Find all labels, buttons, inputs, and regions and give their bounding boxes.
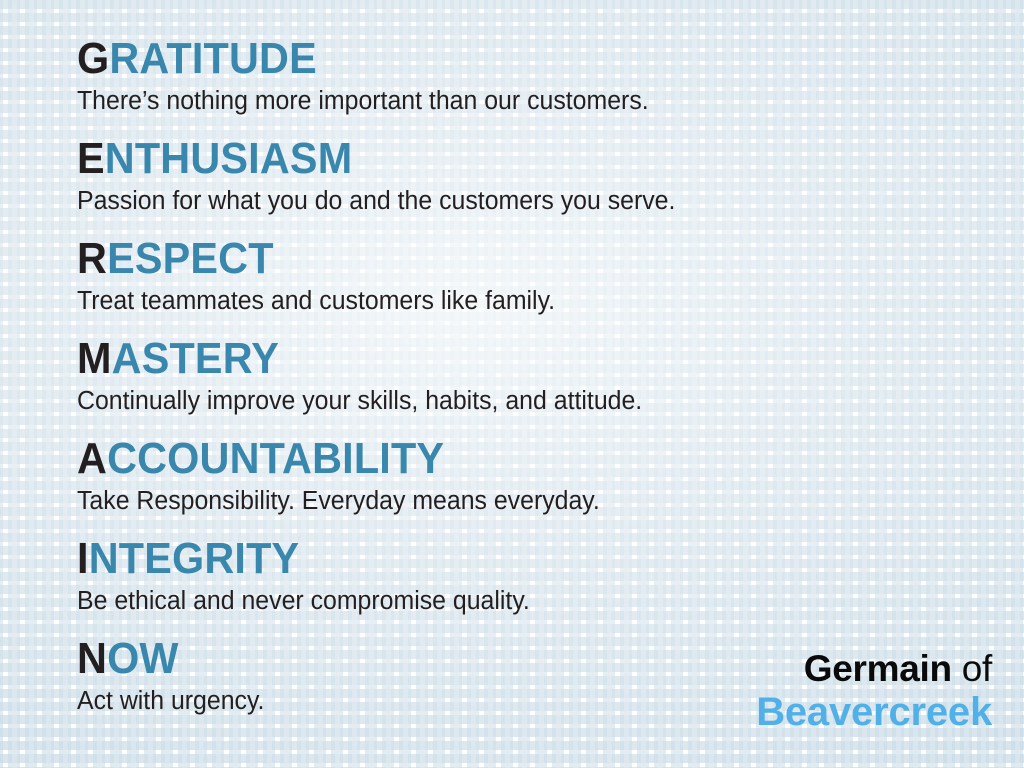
value-item-enthusiasm: ENTHUSIASM Passion for what you do and t… [77, 136, 977, 236]
logo-brand-name: Germain [804, 648, 952, 689]
slide-canvas: GRATITUDE There’s nothing more important… [0, 0, 1024, 768]
value-item-accountability: ACCOUNTABILITY Take Responsibility. Ever… [77, 436, 977, 536]
value-heading-lead-letter: G [77, 34, 109, 83]
logo-brand-line: Germain of [756, 648, 992, 690]
value-heading-lead-letter: E [77, 134, 105, 183]
value-item-gratitude: GRATITUDE There’s nothing more important… [77, 36, 977, 136]
value-heading-remainder: CCOUNTABILITY [107, 434, 444, 483]
value-heading-remainder: ESPECT [107, 234, 274, 283]
value-item-mastery: MASTERY Continually improve your skills,… [77, 336, 977, 436]
value-heading-lead-letter: A [77, 434, 107, 483]
value-heading-lead-letter: R [77, 234, 107, 283]
value-description-integrity: Be ethical and never compromise quality. [77, 584, 955, 618]
core-values-list: GRATITUDE There’s nothing more important… [77, 36, 977, 736]
value-heading-remainder: ASTERY [112, 334, 279, 383]
value-heading-lead-letter: N [77, 634, 107, 683]
value-heading-lead-letter: M [77, 334, 112, 383]
value-description-enthusiasm: Passion for what you do and the customer… [77, 184, 955, 218]
value-heading-remainder: OW [107, 634, 179, 683]
value-item-integrity: INTEGRITY Be ethical and never compromis… [77, 536, 977, 636]
value-description-respect: Treat teammates and customers like famil… [77, 284, 955, 318]
value-heading-respect: RESPECT [77, 236, 923, 282]
value-description-mastery: Continually improve your skills, habits,… [77, 384, 955, 418]
value-heading-remainder: RATITUDE [109, 34, 317, 83]
value-heading-lead-letter: I [77, 534, 89, 583]
value-heading-mastery: MASTERY [77, 336, 923, 382]
value-heading-gratitude: GRATITUDE [77, 36, 923, 82]
dealership-logo: Germain of Beavercreek [756, 648, 992, 734]
value-heading-remainder: NTHUSIASM [105, 134, 353, 183]
logo-location-name: Beavercreek [756, 690, 992, 734]
value-description-gratitude: There’s nothing more important than our … [77, 84, 955, 118]
value-heading-enthusiasm: ENTHUSIASM [77, 136, 923, 182]
slide-content: GRATITUDE There’s nothing more important… [0, 0, 1024, 768]
logo-connector-word: of [952, 648, 992, 689]
value-description-accountability: Take Responsibility. Everyday means ever… [77, 484, 955, 518]
value-heading-integrity: INTEGRITY [77, 536, 923, 582]
value-heading-accountability: ACCOUNTABILITY [77, 436, 923, 482]
value-item-respect: RESPECT Treat teammates and customers li… [77, 236, 977, 336]
value-heading-remainder: NTEGRITY [89, 534, 300, 583]
